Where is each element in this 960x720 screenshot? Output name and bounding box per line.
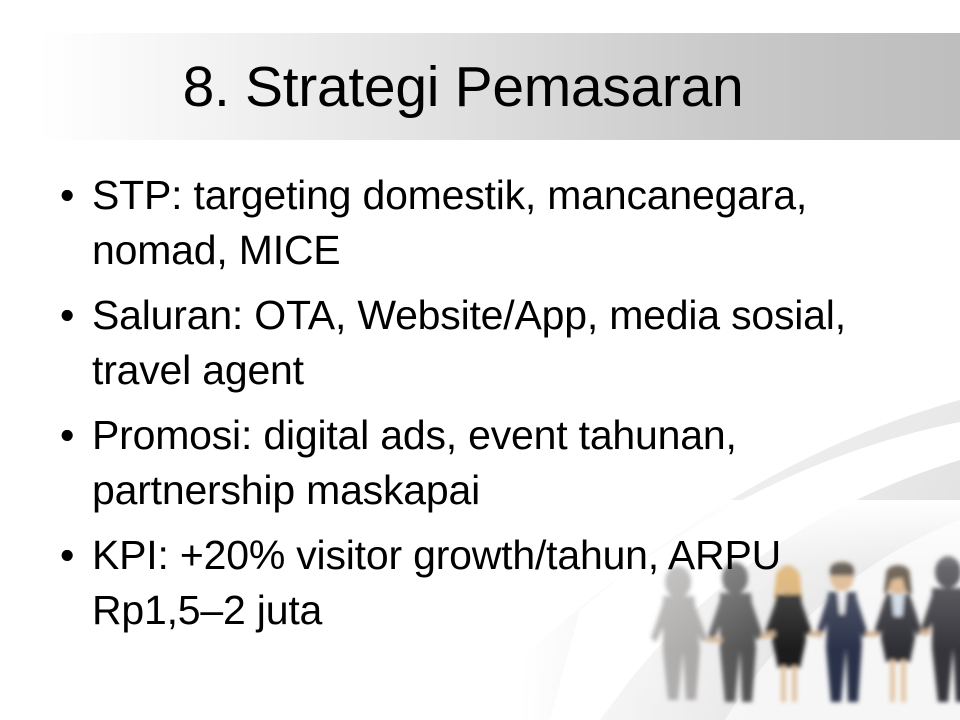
bullet-marker-icon: • — [50, 528, 92, 583]
bullet-marker-icon: • — [50, 168, 92, 223]
list-item: • Saluran: OTA, Website/App, media sosia… — [50, 288, 930, 398]
page-title: 8. Strategi Pemasaran — [0, 33, 960, 140]
title-band: 8. Strategi Pemasaran — [0, 33, 960, 140]
bullet-text: Saluran: OTA, Website/App, media sosial,… — [92, 288, 892, 398]
bullet-text: STP: targeting domestik, mancanegara, no… — [92, 168, 892, 278]
slide-canvas: 8. Strategi Pemasaran — [0, 0, 960, 720]
bullet-marker-icon: • — [50, 288, 92, 343]
bullet-text: Promosi: digital ads, event tahunan, par… — [92, 408, 892, 518]
list-item: • KPI: +20% visitor growth/tahun, ARPU R… — [50, 528, 930, 638]
bullet-list: • STP: targeting domestik, mancanegara, … — [50, 168, 930, 648]
list-item: • Promosi: digital ads, event tahunan, p… — [50, 408, 930, 518]
bullet-marker-icon: • — [50, 408, 92, 463]
list-item: • STP: targeting domestik, mancanegara, … — [50, 168, 930, 278]
bullet-text: KPI: +20% visitor growth/tahun, ARPU Rp1… — [92, 528, 892, 638]
